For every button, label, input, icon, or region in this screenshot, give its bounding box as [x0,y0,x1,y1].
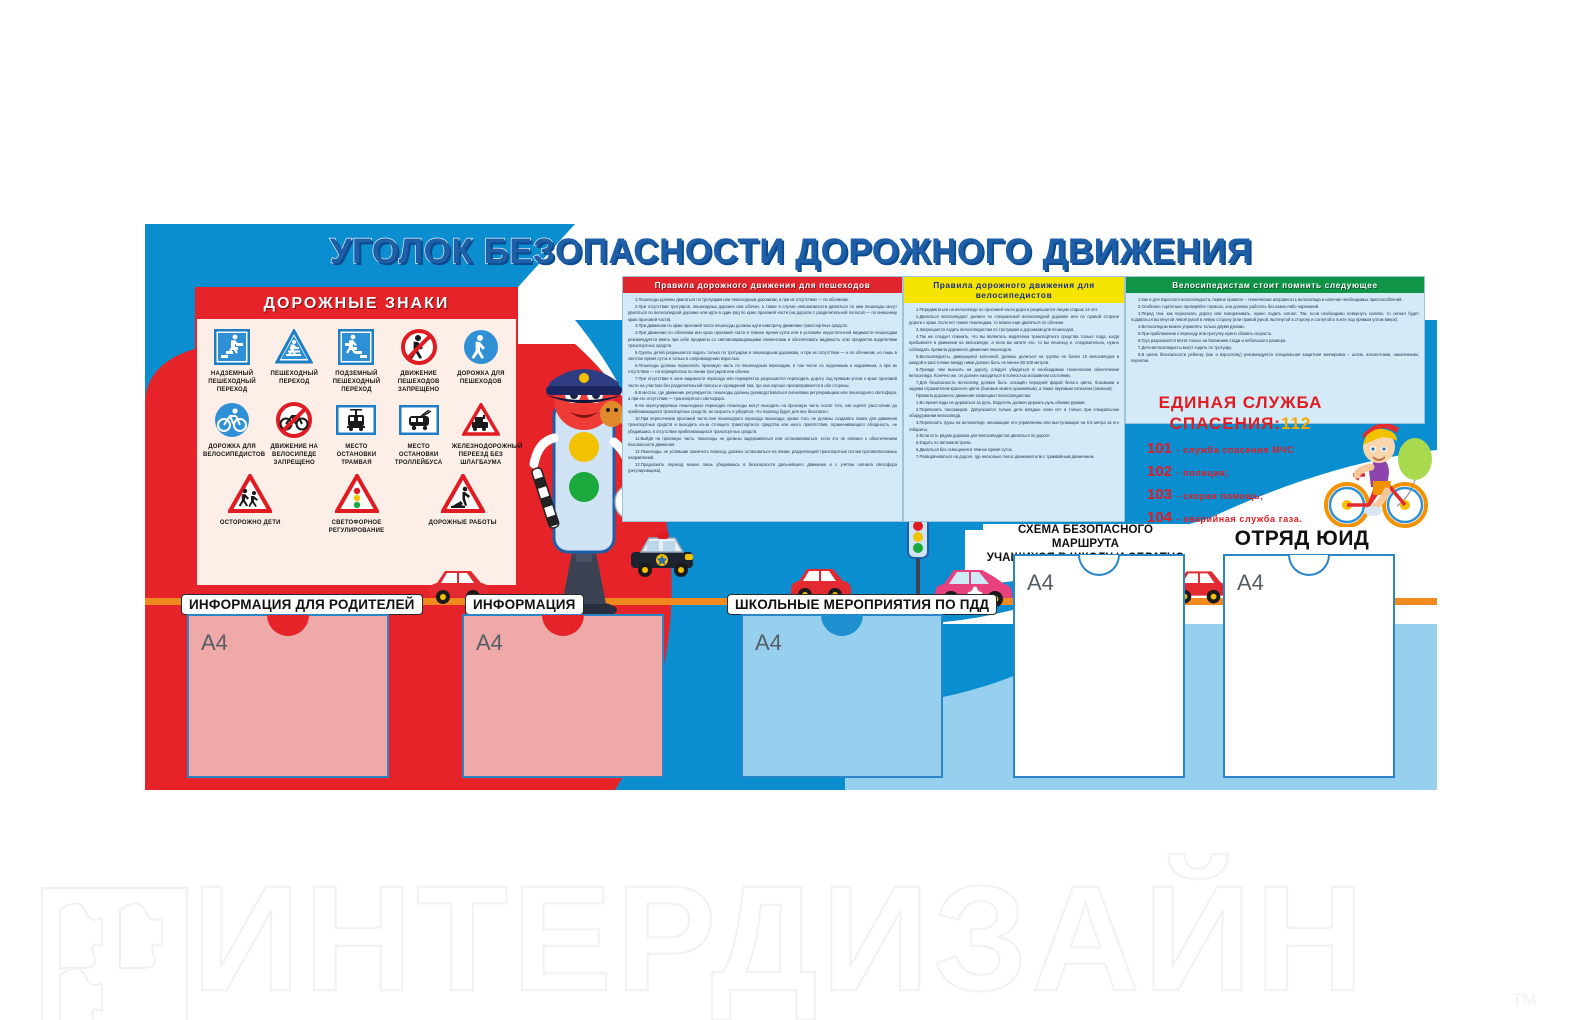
bicycle-path-sign [201,400,263,440]
sign-overpass-crossing: НАДЗЕМНЫЙ ПЕШЕХОДНЫЙ ПЕРЕХОД [201,327,263,394]
pocket-thumb-cutout [542,615,584,636]
road-signs-row-2: ДОРОЖКА ДЛЯ ВЕЛОСИПЕДИСТОВ [197,394,516,467]
panel-cyclist-rules: Правила дорожного движения для велосипед… [903,276,1125,522]
rule-item: 11.Выйдя на проезжую часть, пешеходы не … [628,436,897,449]
sign-roadworks: ДОРОЖНЫЕ РАБОТЫ [410,472,516,535]
pocket-size-label: A4 [755,630,782,656]
emergency-label: - аварийная служба газа. [1176,514,1302,524]
rule-item: 7.Для безопасности велосипед должен быть… [909,380,1119,393]
rule-item: 9.На нерегулируемых пешеходных переходах… [628,403,897,416]
no-pedestrians-sign [388,327,450,367]
traffic-light-icon [905,514,931,604]
emergency-title-line2: СПАСЕНИЯ: [1170,414,1281,433]
rule-item: 2.Двигаться велосипедист должен по специ… [909,314,1119,327]
rule-item: 3.Перевозить грузы на велосипеде, мешающ… [909,420,1119,433]
no-bicycles-sign [263,400,325,440]
emergency-services-block: ЕДИНАЯ СЛУЖБА СПАСЕНИЯ:112 101 - служба … [1133,392,1348,527]
rule-item: 4.Если есть рядом дорожка для велосипеди… [909,433,1119,439]
roadworks-sign [410,472,516,516]
sign-railway-crossing: ЖЕЛЕЗНОДОРОЖНЫЙ ПЕРЕЕЗД БЕЗ ШЛАГБАУМА [450,400,512,467]
panel-header: Правила дорожного движения для велосипед… [904,277,1124,303]
police-car-illustration [627,526,699,578]
rule-item: 5.Ездить по автомагистрали. [909,440,1119,446]
pocket-thumb-cutout [1288,555,1330,576]
watermark-text: ИНТЕРДИЗАЙН [192,853,1368,1020]
sign-caption: ДВИЖЕНИЕ НА ВЕЛОСИПЕДЕ ЗАПРЕЩЕНО [263,443,325,467]
sign-trolleybus-stop: МЕСТО ОСТАНОВКИ ТРОЛЛЕЙБУСА [388,400,450,467]
rule-item: 8.В местах, где движение регулируется, п… [628,390,897,403]
pocket-tab-school-events[interactable]: ШКОЛЬНЫЕ МЕРОПРИЯТИЯ ПО ПДД [727,594,997,615]
railway-crossing-sign [450,400,512,440]
rule-item: Правила дорожного движения запрещают вел… [909,393,1119,399]
tram-stop-sign [325,400,387,440]
emergency-label: - служба спасения МЧС [1176,445,1294,455]
sign-caption: ДОРОЖКА ДЛЯ ПЕШЕХОДОВ [450,370,512,386]
underpass-crossing-sign [325,327,387,367]
panel-body: 1.Пешеходы должны двигаться по тротуарам… [623,293,902,479]
rule-item: 1.Как и для взрослого велосипедиста, пер… [1131,297,1419,303]
sign-no-bicycles: ДВИЖЕНИЕ НА ВЕЛОСИПЕДЕ ЗАПРЕЩЕНО [263,400,325,467]
rule-item: 6.Двигаться без освещения в тёмное время… [909,447,1119,453]
sign-tram-stop: МЕСТО ОСТАНОВКИ ТРАМВАЯ [325,400,387,467]
emergency-title: ЕДИНАЯ СЛУЖБА СПАСЕНИЯ:112 [1133,392,1348,435]
rule-item: 3.При движении по краю проезжей части пе… [628,323,897,329]
road-signs-row-3: ОСТОРОЖНО ДЕТИ СВЕТОФОРНОЕ РЕГУЛИРОВАНИЕ [197,468,516,535]
page-title: УГОЛОК БЕЗОПАСНОСТИ ДОРОЖНОГО ДВИЖЕНИЯ [145,232,1437,272]
road-signs-row-1: НАДЗЕМНЫЙ ПЕШЕХОДНЫЙ ПЕРЕХОД [197,319,516,394]
pocket-thumb-cutout [267,615,309,636]
sign-caption: ДОРОЖКА ДЛЯ ВЕЛОСИПЕДИСТОВ [201,443,263,459]
rule-item: 7.Разворачиваться на дороге, где несколь… [909,454,1119,460]
rule-item: 5.При приближении к переходу или прогулк… [1131,331,1419,337]
banner-safe-route-line1: СХЕМА БЕЗОПАСНОГО МАРШРУТА [983,524,1188,552]
emergency-number: 104 [1147,509,1172,526]
pocket-size-label: A4 [201,630,228,656]
sign-caption: МЕСТО ОСТАНОВКИ ТРАМВАЯ [325,443,387,467]
rule-item: 6.Пешеходы должны пересекать проезжую ча… [628,363,897,376]
pocket-a4-parents-info[interactable]: A4 [187,614,389,778]
rule-item: 3.Перед тем, как пересекать дорогу или п… [1131,311,1419,324]
pocket-tab-parents-info[interactable]: ИНФОРМАЦИЯ ДЛЯ РОДИТЕЛЕЙ [181,594,423,615]
rule-item: 5.Велосипедисты, движущиеся колонной, до… [909,354,1119,367]
panel-header: Велосипедистам стоит помнить следующее [1126,277,1424,293]
pedestrian-path-sign [450,327,512,367]
rule-item: 1.Пешеходы должны двигаться по тротуарам… [628,297,897,303]
pocket-tab-information[interactable]: ИНФОРМАЦИЯ [465,594,584,615]
pocket-a4-information[interactable]: A4 [462,614,664,778]
rule-item: 4.При движении по обочинам или краю прое… [628,330,897,349]
sign-no-pedestrians: ДВИЖЕНИЕ ПЕШЕХОДОВ ЗАПРЕЩЕНО [388,327,450,394]
screenshot-root: ИНТЕРДИЗАЙН ТМ [0,0,1580,1020]
road-signs-card: ДОРОЖНЫЕ ЗНАКИ НАДЗЕМНЫЙ [195,287,518,587]
rule-item: 2.Особенно тщательно проверяйте тормоза,… [1131,304,1419,310]
sign-pedestrian-path: ДОРОЖКА ДЛЯ ПЕШЕХОДОВ [450,327,512,394]
rule-item: 6.Груз разрешается везти только на багаж… [1131,338,1419,344]
sign-caption: ДВИЖЕНИЕ ПЕШЕХОДОВ ЗАПРЕЩЕНО [388,370,450,394]
trolleybus-stop-sign [388,400,450,440]
rule-item: 8.В целях безопасности ребенку (как и вз… [1131,352,1419,365]
watermark: ИНТЕРДИЗАЙН ТМ [0,800,1580,1020]
sign-bicycle-path: ДОРОЖКА ДЛЯ ВЕЛОСИПЕДИСТОВ [201,400,263,467]
sign-caption: ЖЕЛЕЗНОДОРОЖНЫЙ ПЕРЕЕЗД БЕЗ ШЛАГБАУМА [450,443,512,467]
pocket-a4-school-events[interactable]: A4 [741,614,943,778]
panel-body: 1.Как и для взрослого велосипедиста, пер… [1126,293,1424,369]
children-warning-sign [197,472,303,516]
watermark-tm: ТМ [1512,990,1537,1009]
rule-item: 4.Велосипедом можно управлять только дву… [1131,324,1419,330]
pedestrian-crossing-sign [263,327,325,367]
sign-children-warning: ОСТОРОЖНО ДЕТИ [197,472,303,535]
pocket-size-label: A4 [1237,570,1264,596]
emergency-number: 103 [1147,486,1172,503]
rule-item: 2.Перевозить пассажиров. Допускаются тол… [909,407,1119,420]
emergency-label: - полиция; [1176,468,1229,478]
emergency-list: 101 - служба спасения МЧС 102 - полиция;… [1133,440,1348,527]
rule-item: 7.При отсутствии в зоне видимости перехо… [628,376,897,389]
emergency-number-112: 112 [1281,414,1311,433]
rule-item: 6.Прежде чем выехать на дорогу, следует … [909,367,1119,380]
emergency-item: 103 - скорая помощь; [1147,486,1348,504]
rule-item: 10.При пересечении проезжей части вне пе… [628,416,897,435]
emergency-number: 102 [1147,463,1172,480]
rule-item: 13.Продолжать переход можно лишь убедивш… [628,462,897,475]
banner-yuid-squad: ОТРЯД ЮИД [1217,527,1387,551]
sign-caption: МЕСТО ОСТАНОВКИ ТРОЛЛЕЙБУСА [388,443,450,467]
emergency-number: 101 [1147,440,1172,457]
emergency-label: - скорая помощь; [1176,491,1263,501]
panel-body: 1.Передвигаться на велосипеде по проезже… [904,303,1124,465]
pocket-thumb-cutout [1078,555,1120,576]
sign-pedestrian-crossing: ПЕШЕХОДНЫЙ ПЕРЕХОД [263,327,325,394]
pocket-a4-yuid[interactable]: A4 [1223,554,1395,778]
sign-caption: СВЕТОФОРНОЕ РЕГУЛИРОВАНИЕ [303,519,409,535]
safety-board: УГОЛОК БЕЗОПАСНОСТИ ДОРОЖНОГО ДВИЖЕНИЯ Д… [145,224,1437,790]
pocket-a4-safe-route[interactable]: A4 [1013,554,1185,778]
pocket-thumb-cutout [821,615,863,636]
sign-caption: ОСТОРОЖНО ДЕТИ [197,519,303,527]
overpass-crossing-sign [201,327,263,367]
rule-item: 1.Передвигаться на велосипеде по проезже… [909,307,1119,313]
rule-item: 2.При отсутствии тротуаров, пешеходных д… [628,304,897,323]
rule-item: 3.Запрещается ездить велосипедистам по т… [909,327,1119,333]
panel-pedestrian-rules: Правила дорожного движения для пешеходов… [622,276,903,522]
pocket-size-label: A4 [476,630,503,656]
emergency-item: 102 - полиция; [1147,463,1348,481]
sign-caption: ПЕШЕХОДНЫЙ ПЕРЕХОД [263,370,325,386]
sign-traffic-signals: СВЕТОФОРНОЕ РЕГУЛИРОВАНИЕ [303,472,409,535]
rule-item: 4.Так же следует помнить, что вы являете… [909,334,1119,353]
rule-item: 1.Во время езды не держаться за руль. Во… [909,400,1119,406]
pocket-size-label: A4 [1027,570,1054,596]
rule-item: 5.Группы детей разрешается водить только… [628,350,897,363]
road-signs-header: ДОРОЖНЫЕ ЗНАКИ [197,289,516,319]
panel-header: Правила дорожного движения для пешеходов [623,277,902,293]
sign-underpass-crossing: ПОДЗЕМНЫЙ ПЕШЕХОДНЫЙ ПЕРЕХОД [325,327,387,394]
sign-caption: ДОРОЖНЫЕ РАБОТЫ [410,519,516,527]
rule-item: 12.Пешеходы, не успевшие закончить перех… [628,449,897,462]
rule-item: 7.Дети-велосипедисты могут ездить по тро… [1131,345,1419,351]
emergency-item: 101 - служба спасения МЧС [1147,440,1348,458]
sign-caption: НАДЗЕМНЫЙ ПЕШЕХОДНЫЙ ПЕРЕХОД [201,370,263,394]
traffic-signals-sign [303,472,409,516]
emergency-title-line1: ЕДИНАЯ СЛУЖБА [1159,393,1323,412]
sign-caption: ПОДЗЕМНЫЙ ПЕШЕХОДНЫЙ ПЕРЕХОД [325,370,387,394]
